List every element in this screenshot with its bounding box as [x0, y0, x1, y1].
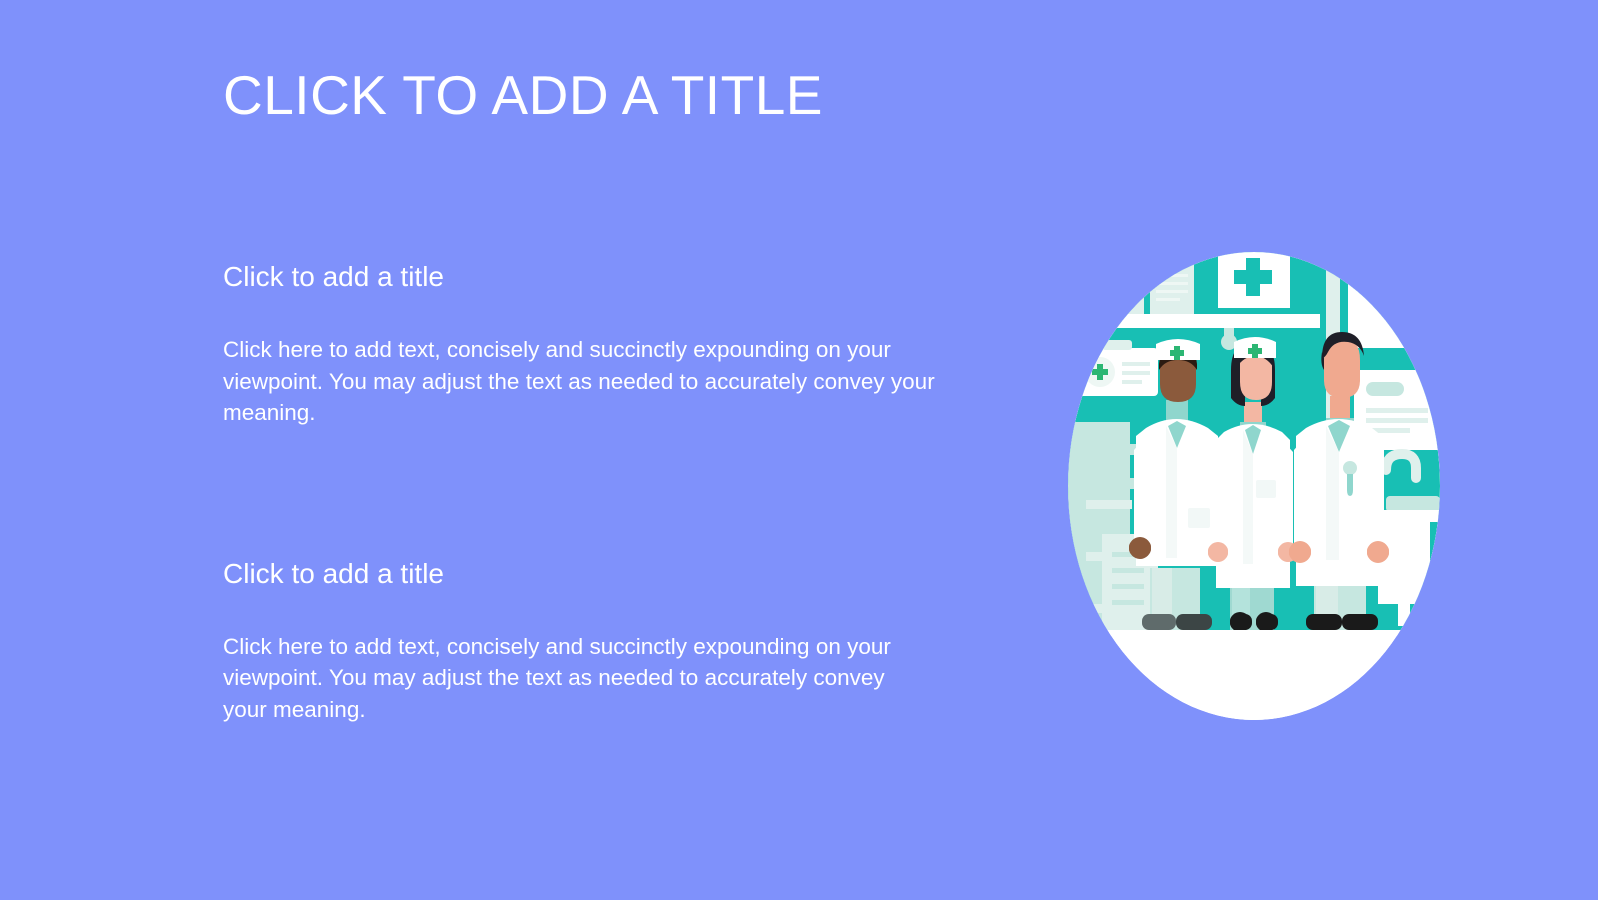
medical-team-illustration[interactable] [1068, 252, 1440, 720]
block-1-body[interactable]: Click here to add text, concisely and su… [223, 334, 958, 429]
page-title[interactable]: CLICK TO ADD A TITLE [223, 62, 823, 128]
text-column: Click to add a title Click here to add t… [223, 258, 963, 725]
medical-team-illustration-svg [1068, 252, 1440, 720]
content-block-2: Click to add a title Click here to add t… [223, 555, 963, 726]
slide: CLICK TO ADD A TITLE Click to add a titl… [0, 0, 1598, 900]
block-2-heading[interactable]: Click to add a title [223, 555, 963, 593]
block-2-body[interactable]: Click here to add text, concisely and su… [223, 631, 933, 726]
block-1-heading[interactable]: Click to add a title [223, 258, 963, 296]
content-block-1: Click to add a title Click here to add t… [223, 258, 963, 429]
